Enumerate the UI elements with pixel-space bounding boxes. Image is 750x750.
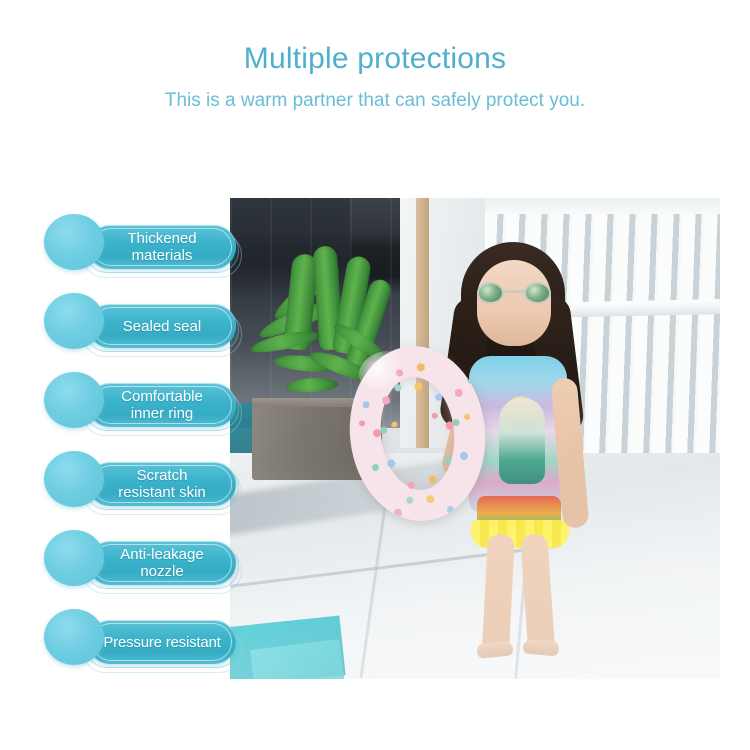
feature-number-badge (44, 214, 104, 270)
fence-top-edge (485, 198, 720, 214)
swimsuit-frill (471, 520, 569, 548)
feature-item-4[interactable]: Scratch resistant skin 4. (44, 451, 244, 530)
feature-pill: Scratch resistant skin (88, 462, 236, 506)
feature-number-badge (44, 609, 104, 665)
page-header: Multiple protections This is a warm part… (0, 40, 750, 114)
feature-label: Sealed seal (88, 304, 236, 348)
feature-number-badge (44, 293, 104, 349)
swimsuit-print-character (499, 398, 545, 484)
feature-label: Comfortable inner ring (88, 383, 236, 427)
leg-left (482, 533, 515, 650)
feature-item-3[interactable]: Comfortable inner ring 3. (44, 372, 244, 451)
page-subtitle: This is a warm partner that can safely p… (0, 88, 750, 114)
leg-right (520, 533, 555, 649)
feature-number-badge (44, 530, 104, 586)
feature-number-badge (44, 451, 104, 507)
feature-pill: Comfortable inner ring (88, 383, 236, 427)
feature-item-2[interactable]: Sealed seal 2. (44, 293, 244, 372)
feature-label: Scratch resistant skin (88, 462, 236, 506)
sunglasses-lens-right (524, 282, 551, 304)
feature-label: Thickened materials (88, 225, 236, 269)
foot-right (522, 638, 559, 656)
feature-number-badge (44, 372, 104, 428)
feature-item-5[interactable]: Anti-leakage nozzle 5. (44, 530, 244, 609)
feature-pill: Pressure resistant (88, 620, 236, 664)
sunglasses-icon (475, 282, 555, 304)
page-title: Multiple protections (0, 40, 750, 78)
product-photo (230, 198, 720, 679)
sunglasses-bridge (504, 290, 524, 293)
feature-label: Anti-leakage nozzle (88, 541, 236, 585)
sunglasses-lens-left (477, 282, 504, 304)
feature-label: Pressure resistant (88, 620, 236, 664)
feature-item-1[interactable]: Thickened materials 1. (44, 214, 244, 293)
feature-item-6[interactable]: Pressure resistant 6. (44, 609, 244, 688)
feature-pill: Anti-leakage nozzle (88, 541, 236, 585)
feature-pill: Sealed seal (88, 304, 236, 348)
feature-list: Thickened materials 1. Sealed seal 2. (44, 214, 244, 688)
feature-pill: Thickened materials (88, 225, 236, 269)
foot-left (476, 640, 513, 659)
product-feature-page: Multiple protections This is a warm part… (0, 0, 750, 750)
